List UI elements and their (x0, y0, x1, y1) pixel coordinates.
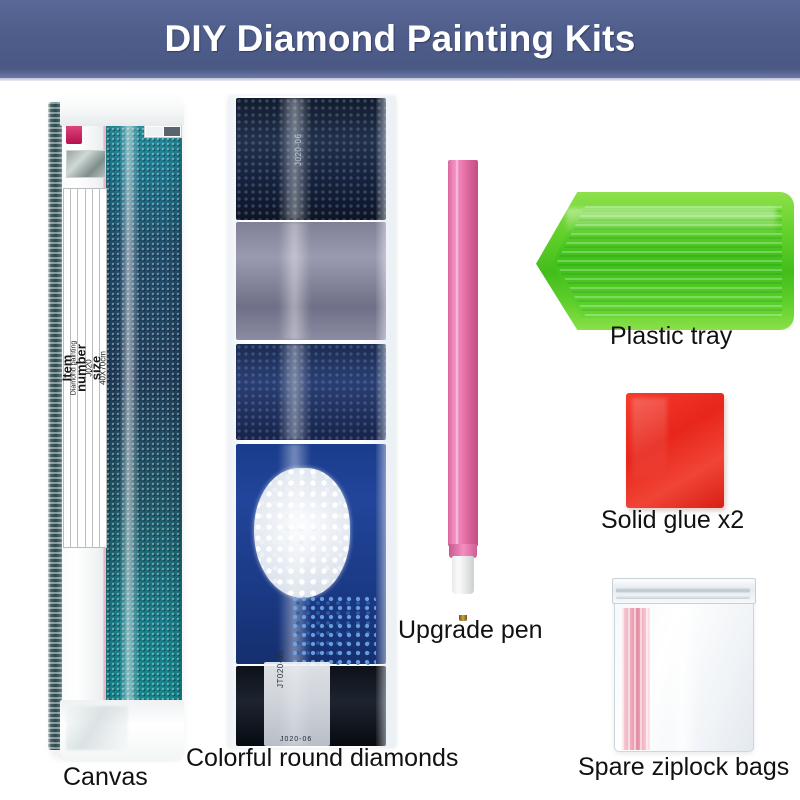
pen-clear-section (452, 556, 474, 594)
product-canvas-roll: Top Item Diamond painting number J020 (46, 92, 186, 764)
product-infographic: DIY Diamond Painting Kits Top Item Diamo… (0, 0, 800, 800)
canvas-top-wrap (60, 92, 184, 126)
caption-tray: Plastic tray (610, 322, 732, 351)
diamond-packet-navy (236, 344, 386, 440)
caption-pen: Upgrade pen (398, 616, 543, 645)
diamond-packet-grey (236, 222, 386, 340)
header-underline (0, 78, 800, 81)
diamond-packet-code-top: J020-06 (294, 134, 303, 166)
caption-canvas: Canvas (63, 763, 148, 792)
canvas-preview-window (66, 150, 106, 178)
sticker-cell (146, 127, 163, 136)
spec-column-size-value: 40X70cm (100, 189, 106, 547)
product-upgrade-pen (444, 160, 484, 612)
canvas-bottom-wrap (60, 700, 184, 762)
white-diamond-beads-pile (254, 468, 350, 598)
product-diamond-bags: JT020-06 J020-06 J020-06 (228, 96, 396, 748)
tray-highlight (566, 208, 776, 234)
diamond-packet-code-bottom: J020-06 (280, 736, 312, 743)
product-plastic-tray (536, 192, 798, 332)
product-solid-glue (626, 393, 730, 513)
sticker-cell (164, 127, 181, 136)
glue-square (626, 393, 724, 508)
diamond-packet-code-middle: JT020-06 (276, 650, 285, 688)
ziplock-zip-line-secondary (616, 596, 750, 599)
page-title: DIY Diamond Painting Kits (165, 18, 636, 60)
diamond-packet-dark (236, 98, 386, 220)
spec-value-size: 40X70cm (98, 351, 107, 385)
product-ziplock-bags (608, 578, 760, 756)
diamond-bags-outer-bag: JT020-06 J020-06 J020-06 (228, 96, 396, 748)
caption-diamonds: Colorful round diamonds (186, 744, 458, 773)
header-banner: DIY Diamond Painting Kits (0, 0, 800, 78)
ziplock-zip-line (616, 588, 750, 593)
pen-metal-tip (458, 590, 468, 618)
ziplock-pink-stripe (622, 608, 650, 750)
diamond-packet-clear-strip (264, 662, 330, 746)
caption-ziplock: Spare ziplock bags (578, 753, 789, 782)
caption-glue: Solid glue x2 (601, 506, 744, 535)
diamond-bag-sheen (376, 96, 396, 748)
canvas-printed-surface (106, 102, 182, 754)
pen-barrel (448, 160, 478, 546)
canvas-spec-table: Item Diamond painting number J020 size 4… (63, 188, 107, 548)
